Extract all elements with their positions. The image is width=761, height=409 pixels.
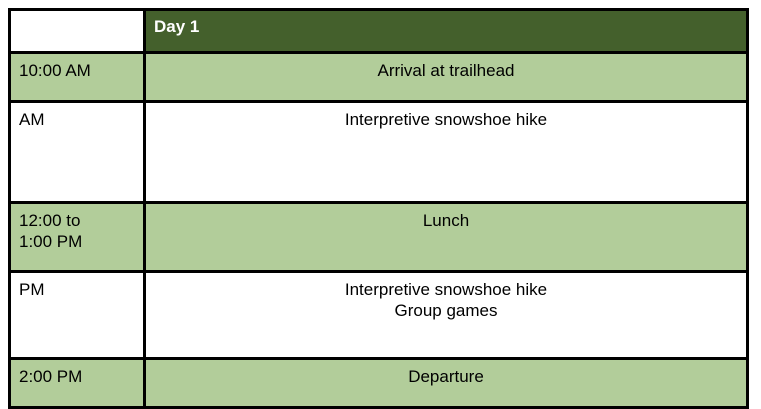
table-corner-cell — [10, 10, 145, 53]
table-row: 12:00 to 1:00 PM Lunch — [10, 203, 748, 272]
table-row: 10:00 AM Arrival at trailhead — [10, 53, 748, 102]
day-schedule-table: Day 1 10:00 AM Arrival at trailhead AM I… — [8, 8, 749, 409]
activity-cell-pm: Interpretive snowshoe hike Group games — [145, 272, 748, 359]
column-header-day-1: Day 1 — [145, 10, 748, 53]
table-row: 2:00 PM Departure — [10, 359, 748, 408]
schedule-table-container: Day 1 10:00 AM Arrival at trailhead AM I… — [8, 8, 749, 393]
activity-cell-departure: Departure — [145, 359, 748, 408]
activity-cell-arrival: Arrival at trailhead — [145, 53, 748, 102]
table-row: PM Interpretive snowshoe hike Group game… — [10, 272, 748, 359]
activity-cell-am: Interpretive snowshoe hike — [145, 102, 748, 203]
time-cell-pm: PM — [10, 272, 145, 359]
table-row: AM Interpretive snowshoe hike — [10, 102, 748, 203]
time-cell-arrival: 10:00 AM — [10, 53, 145, 102]
time-cell-departure: 2:00 PM — [10, 359, 145, 408]
activity-cell-lunch: Lunch — [145, 203, 748, 272]
table-header-row: Day 1 — [10, 10, 748, 53]
time-cell-am: AM — [10, 102, 145, 203]
time-cell-lunch: 12:00 to 1:00 PM — [10, 203, 145, 272]
